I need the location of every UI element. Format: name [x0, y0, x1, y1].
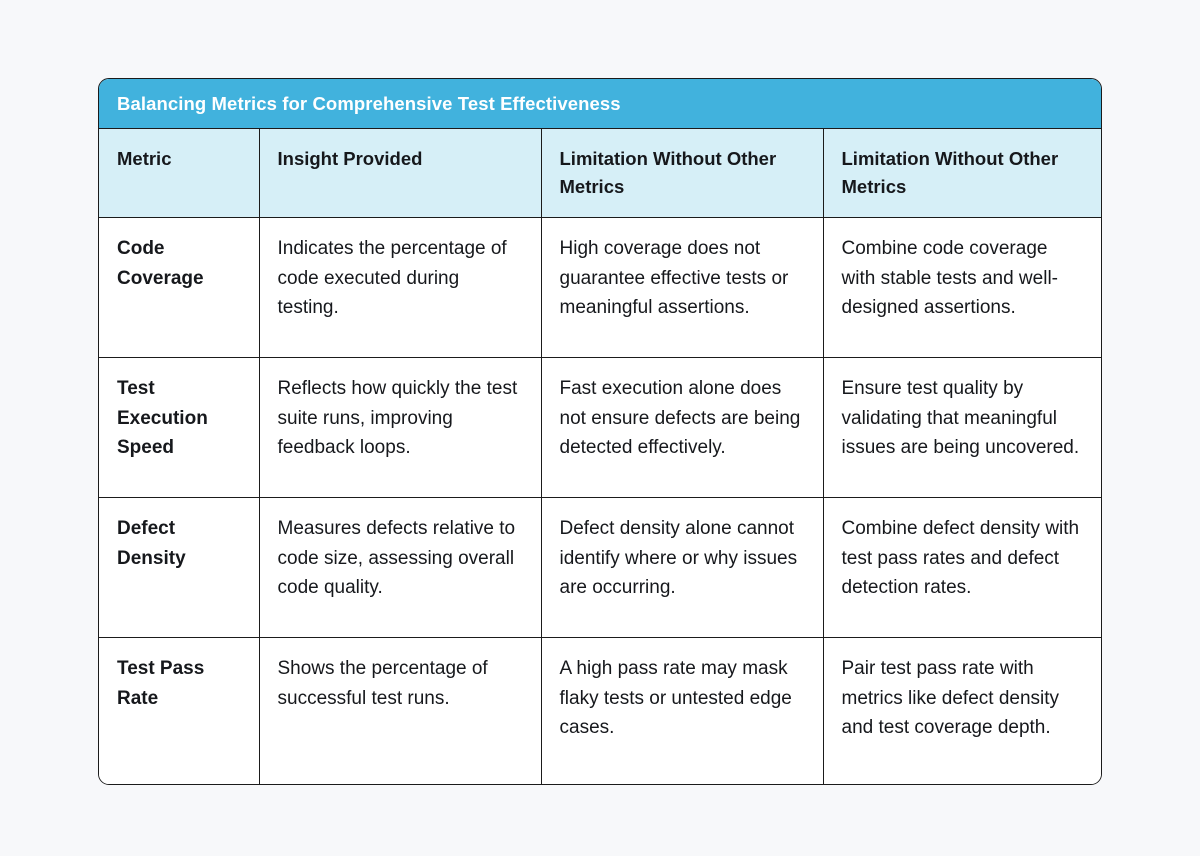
table-head: Metric Insight Provided Limitation Witho… [99, 129, 1101, 218]
cell-metric: Test Execution Speed [99, 358, 259, 498]
cell-limitation: Defect density alone cannot identify whe… [541, 498, 823, 638]
cell-insight: Measures defects relative to code size, … [259, 498, 541, 638]
cell-limitation: High coverage does not guarantee effecti… [541, 218, 823, 358]
table-title: Balancing Metrics for Comprehensive Test… [99, 79, 1101, 129]
cell-metric: Test Pass Rate [99, 638, 259, 784]
column-header-insight-provided: Insight Provided [259, 129, 541, 218]
cell-insight: Reflects how quickly the test suite runs… [259, 358, 541, 498]
cell-insight: Indicates the percentage of code execute… [259, 218, 541, 358]
table-header-row: Metric Insight Provided Limitation Witho… [99, 129, 1101, 218]
column-header-limitation-without-other-metrics-2: Limitation Without Other Metrics [823, 129, 1101, 218]
cell-recommendation: Combine defect density with test pass ra… [823, 498, 1101, 638]
table-row: Test Execution Speed Reflects how quickl… [99, 358, 1101, 498]
cell-insight: Shows the percentage of successful test … [259, 638, 541, 784]
table-row: Defect Density Measures defects relative… [99, 498, 1101, 638]
cell-metric: Defect Density [99, 498, 259, 638]
cell-recommendation: Combine code coverage with stable tests … [823, 218, 1101, 358]
page-canvas: Balancing Metrics for Comprehensive Test… [0, 0, 1200, 856]
metrics-table: Metric Insight Provided Limitation Witho… [99, 129, 1101, 784]
cell-recommendation: Pair test pass rate with metrics like de… [823, 638, 1101, 784]
metrics-table-card: Balancing Metrics for Comprehensive Test… [98, 78, 1102, 785]
table-row: Code Coverage Indicates the percentage o… [99, 218, 1101, 358]
column-header-limitation-without-other-metrics: Limitation Without Other Metrics [541, 129, 823, 218]
column-header-metric: Metric [99, 129, 259, 218]
table-body: Code Coverage Indicates the percentage o… [99, 218, 1101, 784]
table-row: Test Pass Rate Shows the percentage of s… [99, 638, 1101, 784]
cell-recommendation: Ensure test quality by validating that m… [823, 358, 1101, 498]
cell-limitation: Fast execution alone does not ensure def… [541, 358, 823, 498]
cell-limitation: A high pass rate may mask flaky tests or… [541, 638, 823, 784]
cell-metric: Code Coverage [99, 218, 259, 358]
